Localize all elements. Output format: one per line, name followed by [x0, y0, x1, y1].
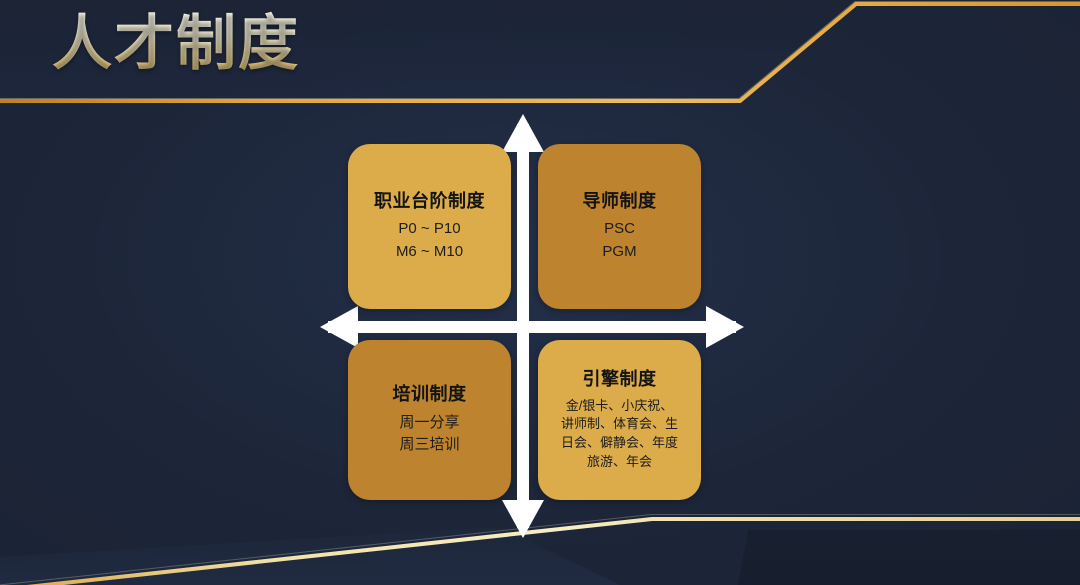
quadrant-line: P0 ~ P10	[398, 218, 460, 241]
quadrant-card-top-right[interactable]: 导师制度 PSC PGM	[538, 144, 701, 309]
page-title: 人才制度	[52, 8, 300, 80]
quadrant-title: 培训制度	[393, 383, 467, 406]
quadrant-line: 旅游、年会	[587, 453, 652, 472]
quadrant-title: 导师制度	[583, 190, 657, 213]
quadrant-matrix: 职业台阶制度 P0 ~ P10 M6 ~ M10 导师制度 PSC PGM 培训…	[318, 112, 746, 540]
quadrant-title: 职业台阶制度	[374, 190, 485, 213]
quadrant-line: PGM	[602, 241, 636, 264]
quadrant-line: M6 ~ M10	[396, 241, 463, 264]
quadrant-card-bottom-left[interactable]: 培训制度 周一分享 周三培训	[348, 340, 511, 500]
slide-canvas: 人才制度 职业台阶制度 P0 ~ P10 M6 ~ M10 导师制度	[0, 0, 1080, 585]
quadrant-line: 日会、僻静会、年度	[561, 434, 678, 453]
quadrant-line: PSC	[604, 218, 635, 241]
quadrant-line: 周一分享	[399, 412, 459, 435]
quadrant-title: 引擎制度	[583, 368, 657, 391]
quadrant-line: 金/银卡、小庆祝、	[566, 397, 674, 416]
quadrant-card-bottom-right[interactable]: 引擎制度 金/银卡、小庆祝、 讲师制、体育会、生 日会、僻静会、年度 旅游、年会	[538, 340, 701, 500]
quadrant-line: 周三培训	[399, 434, 459, 457]
quadrant-card-top-left[interactable]: 职业台阶制度 P0 ~ P10 M6 ~ M10	[348, 144, 511, 309]
quadrant-line: 讲师制、体育会、生	[561, 415, 678, 434]
